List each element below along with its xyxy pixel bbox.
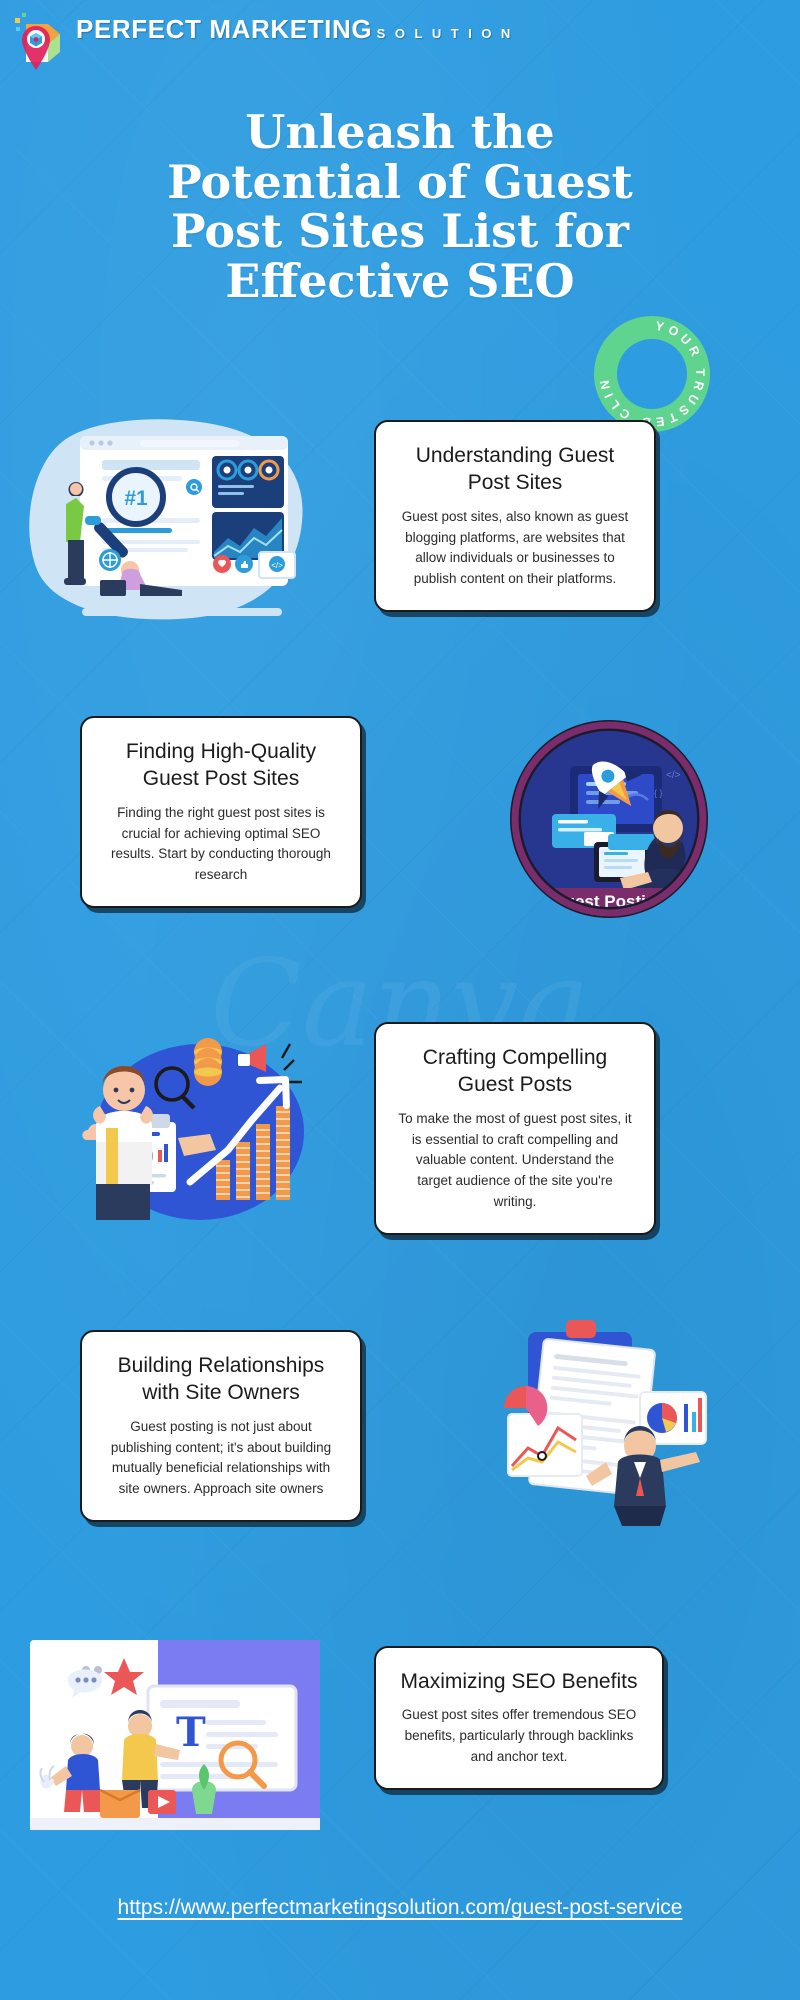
svg-text:</>: </>: [666, 770, 681, 781]
card-title: Understanding Guest Post Sites: [398, 442, 632, 497]
card-body: Guest posting is not just about publishi…: [104, 1417, 338, 1501]
headline-line-4: Effective SEO: [60, 257, 740, 307]
brand-tagline: SOLUTION: [377, 26, 520, 41]
card-title: Finding High-Quality Guest Post Sites: [104, 738, 338, 793]
seo-ranking-dashboard-illustration: #1 </>: [22, 412, 312, 632]
card-body: Finding the right guest post sites is cr…: [104, 803, 338, 887]
card-understanding-guest-post-sites[interactable]: Understanding Guest Post Sites Guest pos…: [374, 420, 656, 612]
card-body: Guest post sites offer tremendous SEO be…: [398, 1705, 640, 1768]
content-writing-team-illustration: T: [30, 1640, 320, 1830]
card-building-relationships-with-site-owners[interactable]: Building Relationships with Site Owners …: [80, 1330, 362, 1522]
card-title: Crafting Compelling Guest Posts: [398, 1044, 632, 1099]
brand-logo-text: PERFECT MARKETING SOLUTION: [76, 12, 520, 43]
headline-line-1: Unleash the: [60, 108, 740, 158]
page-title: Unleash the Potential of Guest Post Site…: [60, 108, 740, 307]
card-finding-high-quality-guest-post-sites[interactable]: Finding High-Quality Guest Post Sites Fi…: [80, 716, 362, 908]
clipboard-documents-analytics-illustration: [490, 1310, 720, 1530]
trusted-clinic-badge: YOUR TRUSTED CLINIC: [588, 310, 716, 438]
card-title: Building Relationships with Site Owners: [104, 1352, 338, 1407]
headline-line-3: Post Sites List for: [60, 207, 740, 257]
growth-chart-marketer-illustration: [60, 1010, 330, 1240]
guest-posting-rocket-badge-illustration: </> { }: [508, 718, 710, 920]
svg-text:#1: #1: [124, 487, 148, 510]
brand-logo[interactable]: PERFECT MARKETING SOLUTION: [14, 12, 520, 74]
svg-text:</>: </>: [271, 561, 283, 570]
svg-text:T: T: [176, 1709, 206, 1756]
brand-name: PERFECT MARKETING: [76, 14, 372, 44]
card-crafting-compelling-guest-posts[interactable]: Crafting Compelling Guest Posts To make …: [374, 1022, 656, 1235]
card-body: Guest post sites, also known as guest bl…: [398, 507, 632, 591]
card-body: To make the most of guest post sites, it…: [398, 1109, 632, 1214]
location-pin-cube-logo-icon: [14, 12, 66, 74]
card-title: Maximizing SEO Benefits: [398, 1668, 640, 1695]
svg-text:{ }: { }: [654, 788, 663, 798]
footer-url-link[interactable]: https://www.perfectmarketingsolution.com…: [0, 1896, 800, 1920]
card-maximizing-seo-benefits[interactable]: Maximizing SEO Benefits Guest post sites…: [374, 1646, 664, 1790]
headline-line-2: Potential of Guest: [60, 158, 740, 208]
